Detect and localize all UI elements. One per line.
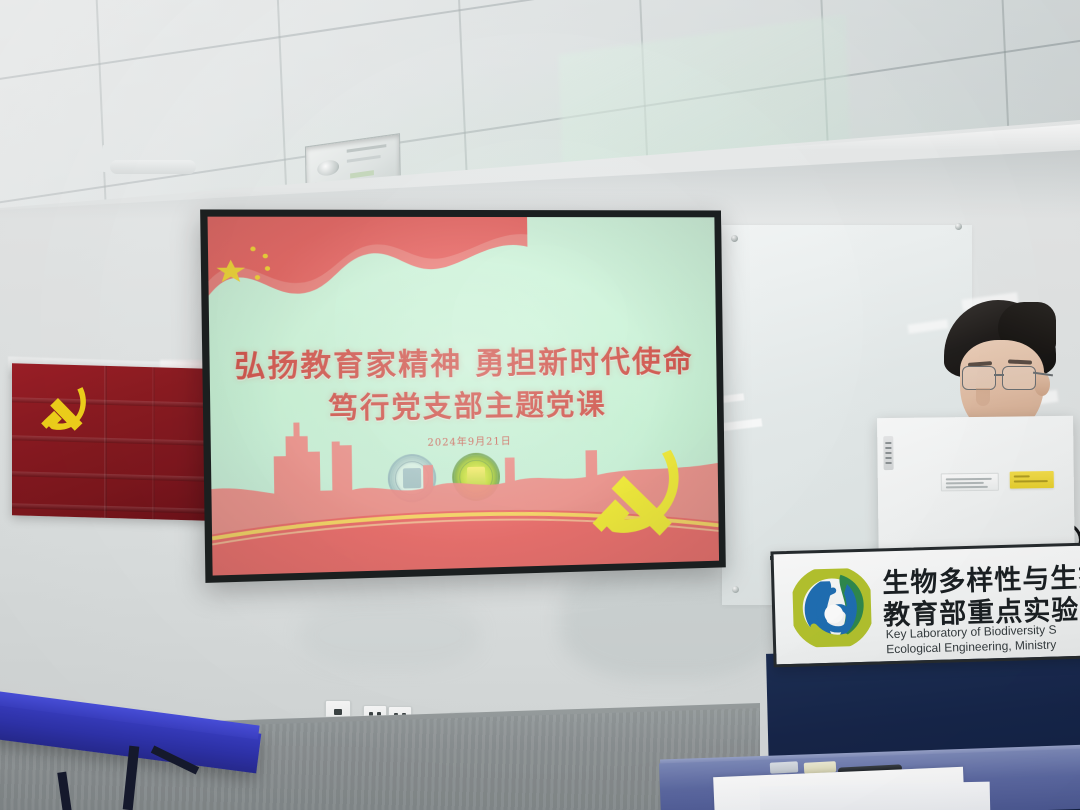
projector-lens-icon [317,159,339,177]
monitor-stand-foot [110,160,196,174]
wall-shadow-patch-2 [300,600,480,670]
monitor-spec-label [941,473,999,492]
projection-surface: 弘扬教育家精神 勇担新时代使命 笃行党支部主题党课 2024年9月21日 [208,217,720,576]
lab-sign: 生物多样性与生态 教育部重点实验室 Key Laboratory of Biod… [770,543,1080,668]
glasses-icon [960,366,1048,392]
cpc-party-flag [12,363,208,520]
nose [976,388,990,406]
monitor-yellow-sticker [1010,471,1054,489]
small-box[interactable] [770,761,799,773]
white-documents-2[interactable] [760,782,991,810]
biodiversity-lab-logo [792,568,872,648]
projection-screen: 弘扬教育家精神 勇担新时代使命 笃行党支部主题党课 2024年9月21日 [200,209,726,582]
hammer-and-sickle-icon [34,382,100,446]
projection-bloom [208,217,720,576]
lenovo-logo [883,436,893,470]
classroom-photo-scene: 弘扬教育家精神 勇担新时代使命 笃行党支部主题党课 2024年9月21日 [0,0,1080,810]
